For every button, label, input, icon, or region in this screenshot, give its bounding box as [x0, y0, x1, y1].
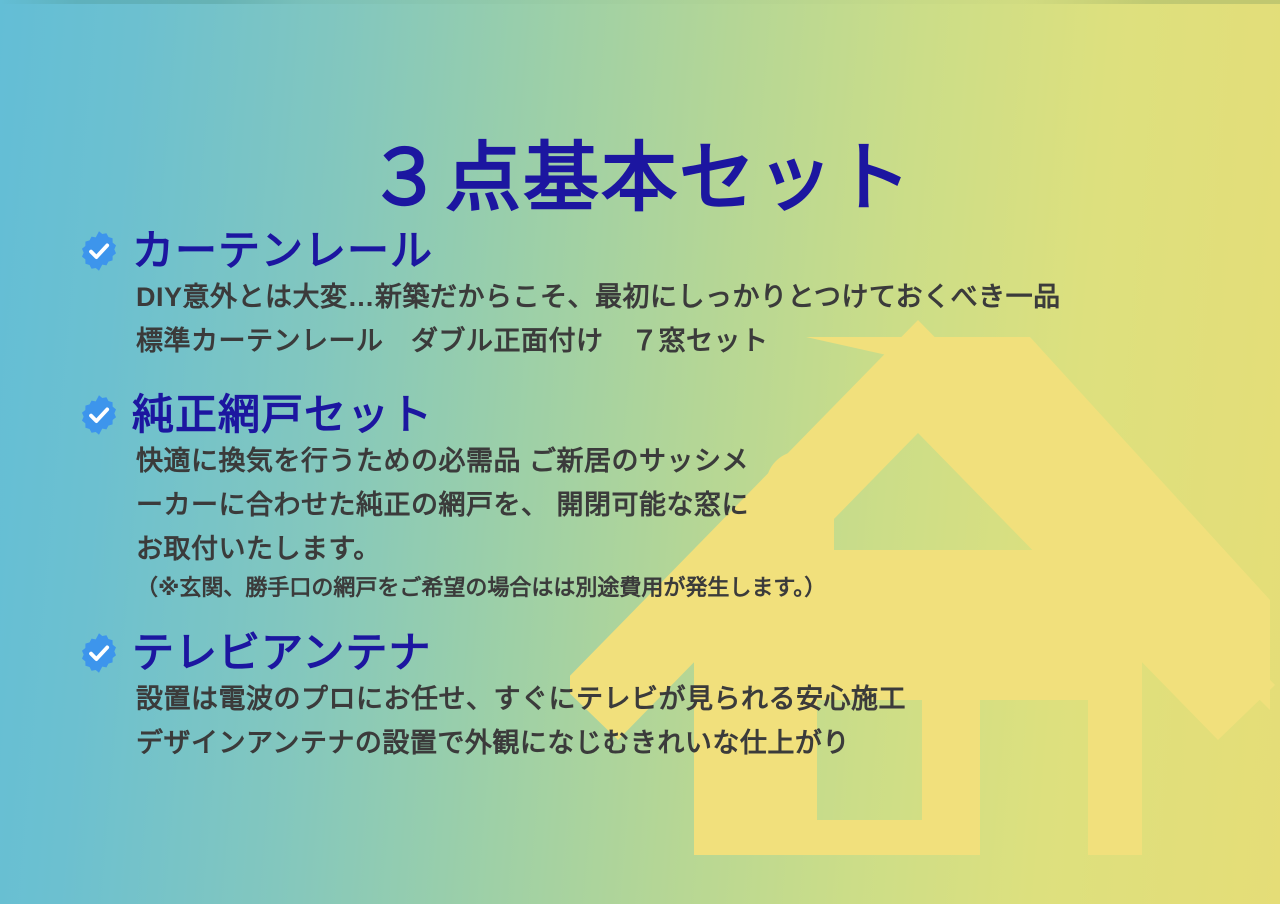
feature-note: （※玄関、勝手口の網戸をご希望の場合はは別途費用が発生します。）: [136, 571, 1238, 604]
feature-heading: カーテンレール: [78, 228, 1238, 274]
feature-title: テレビアンテナ: [132, 630, 431, 676]
feature-title: カーテンレール: [132, 228, 433, 274]
feature-item-curtain-rail: カーテンレール DIY意外とは大変…新築だからこそ、最初にしっかりとつけておくべ…: [78, 228, 1238, 364]
feature-heading: 純正網戸セット: [78, 392, 1238, 438]
check-badge-icon: [78, 632, 120, 674]
feature-line: 設置は電波のプロにお任せ、すぐにテレビが見られる安心施工: [136, 678, 1238, 722]
feature-item-tv-antenna: テレビアンテナ 設置は電波のプロにお任せ、すぐにテレビが見られる安心施工 デザイ…: [78, 630, 1238, 766]
feature-line: DIY意外とは大変…新築だからこそ、最初にしっかりとつけておくべき一品: [136, 276, 1238, 320]
feature-heading: テレビアンテナ: [78, 630, 1238, 676]
feature-line: デザインアンテナの設置で外観になじむきれいな仕上がり: [136, 722, 1238, 766]
check-badge-icon: [78, 230, 120, 272]
feature-line: 快適に換気を行うための必需品 ご新居のサッシメ: [136, 440, 1238, 484]
feature-item-screen-door-set: 純正網戸セット 快適に換気を行うための必需品 ご新居のサッシメ ーカーに合わせた…: [78, 392, 1238, 604]
slide-canvas: ３点基本セット カーテンレール DIY意外とは大変…新築だからこそ、最初にしっか…: [0, 0, 1280, 904]
feature-title: 純正網戸セット: [132, 392, 433, 438]
check-badge-icon: [78, 394, 120, 436]
feature-line: ーカーに合わせた純正の網戸を、 開閉可能な窓に: [136, 484, 1238, 528]
feature-line: お取付いたします。: [136, 528, 1238, 572]
feature-description: 設置は電波のプロにお任せ、すぐにテレビが見られる安心施工 デザインアンテナの設置…: [78, 678, 1238, 765]
feature-line: 標準カーテンレール ダブル正面付け ７窓セット: [136, 320, 1238, 364]
feature-description: DIY意外とは大変…新築だからこそ、最初にしっかりとつけておくべき一品 標準カー…: [78, 276, 1238, 363]
feature-description: 快適に換気を行うための必需品 ご新居のサッシメ ーカーに合わせた純正の網戸を、 …: [78, 440, 1238, 604]
page-title: ３点基本セット: [0, 139, 1280, 219]
